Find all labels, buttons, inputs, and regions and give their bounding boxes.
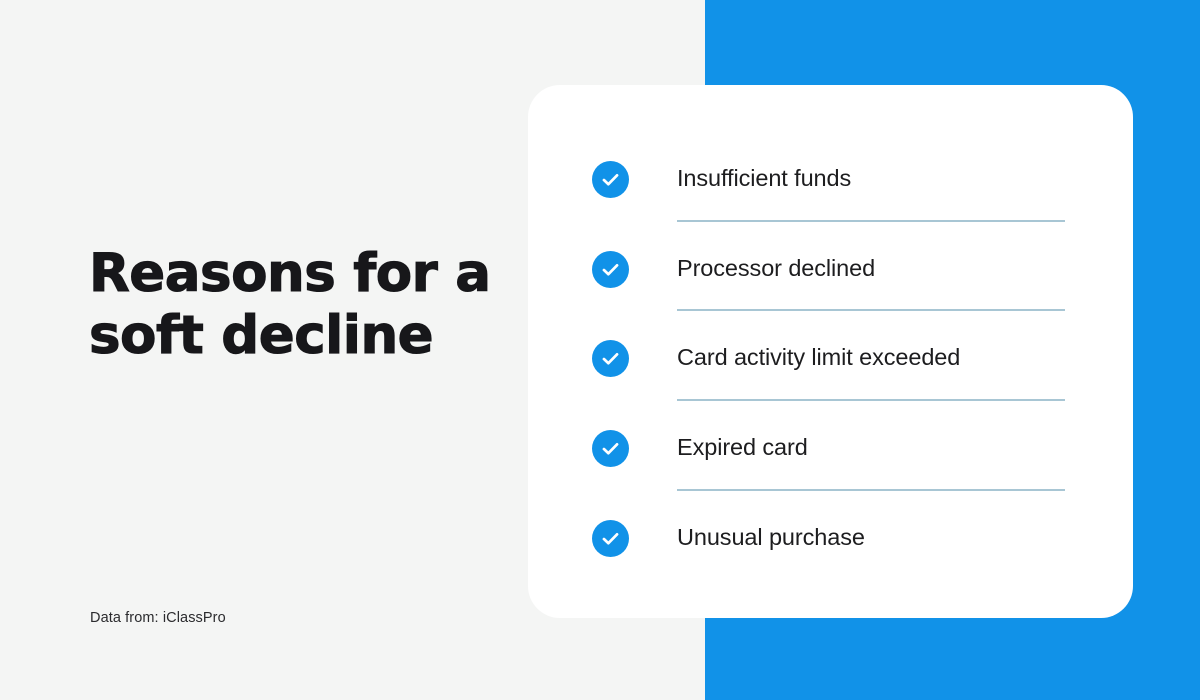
list-item-body: Processor declined [677,251,1065,341]
list-item-body: Insufficient funds [677,161,1065,251]
list-item-divider [677,399,1065,401]
source-attribution: Data from: iClassPro [90,610,226,626]
list-item[interactable]: Card activity limit exceeded [592,340,1065,430]
list-item[interactable]: Unusual purchase [592,520,1065,610]
list-item[interactable]: Processor declined [592,251,1065,341]
list-item-label: Expired card [677,430,1065,460]
list-item-label: Unusual purchase [677,520,1065,550]
list-item-divider [677,489,1065,491]
infographic-canvas: Reasons for a soft decline Data from: iC… [0,0,1200,700]
list-item-label: Insufficient funds [677,161,1065,191]
list-item-body: Card activity limit exceeded [677,340,1065,430]
list-item-label: Processor declined [677,251,1065,281]
check-circle-icon [592,520,629,557]
list-item-label: Card activity limit exceeded [677,340,1065,370]
reasons-card: Insufficient funds Processor declined [528,85,1133,618]
check-circle-icon [592,430,629,467]
reasons-list: Insufficient funds Processor declined [592,161,1065,609]
list-item-divider [677,309,1065,311]
list-item[interactable]: Expired card [592,430,1065,520]
check-circle-icon [592,340,629,377]
list-item-body: Expired card [677,430,1065,520]
check-circle-icon [592,251,629,288]
list-item[interactable]: Insufficient funds [592,161,1065,251]
page-title: Reasons for a soft decline [89,243,519,367]
list-item-divider [677,220,1065,222]
list-item-body: Unusual purchase [677,520,1065,610]
check-circle-icon [592,161,629,198]
